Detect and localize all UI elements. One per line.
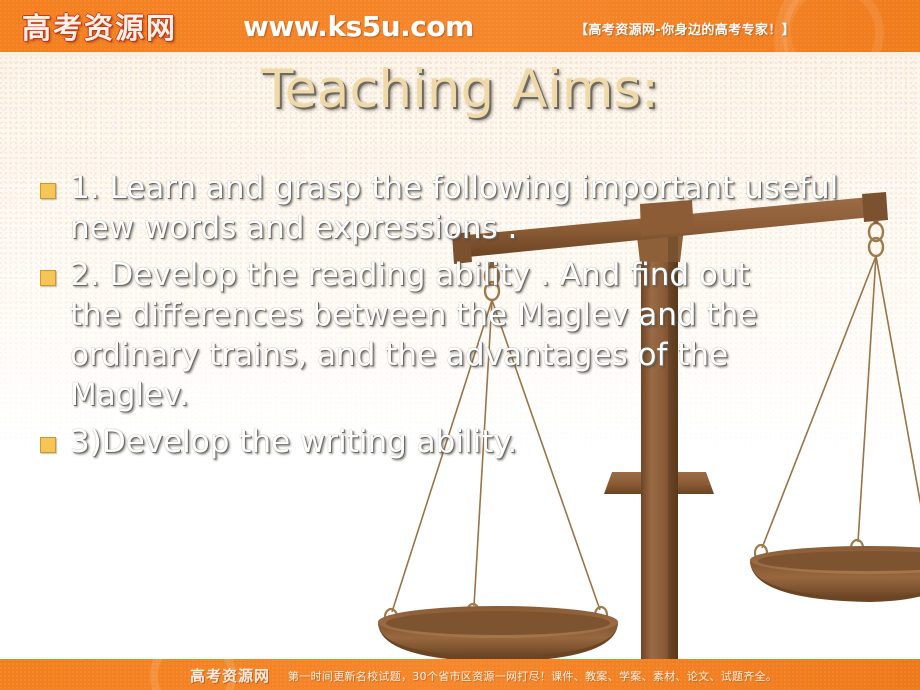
square-bullet-icon xyxy=(40,183,56,199)
site-logo-text: 高考资源网 xyxy=(22,5,177,47)
square-bullet-icon xyxy=(40,270,56,286)
square-bullet-icon xyxy=(40,437,56,453)
site-footer-banner: 高考资源网 第一时间更新名校试题，30个省市区资源一网打尽！课件、教案、学案、素… xyxy=(0,659,920,690)
list-item: 1. Learn and grasp the following importa… xyxy=(40,168,880,249)
bullet-text-3: 3)Develop the writing ability. xyxy=(70,422,830,462)
slide-canvas: 高考资源网 www.ks5u.com 【高考资源网-你身边的高考专家！】 Tea… xyxy=(0,0,920,690)
slide-bullet-list: 1. Learn and grasp the following importa… xyxy=(40,168,880,468)
list-item: 3)Develop the writing ability. xyxy=(40,422,880,462)
site-tagline: 【高考资源网-你身边的高考专家！】 xyxy=(575,19,795,38)
bullet-text-2: 2. Develop the reading ability . And fin… xyxy=(70,255,810,416)
site-url-text[interactable]: www.ks5u.com xyxy=(243,10,474,43)
slide-title: Teaching Aims: xyxy=(0,62,920,118)
footer-description-text: 第一时间更新名校试题，30个省市区资源一网打尽！课件、教案、学案、素材、论文、试… xyxy=(288,668,777,684)
bullet-text-1: 1. Learn and grasp the following importa… xyxy=(70,168,880,249)
footer-logo-text: 高考资源网 xyxy=(190,665,270,686)
list-item: 2. Develop the reading ability . And fin… xyxy=(40,255,880,416)
header-underline-strip xyxy=(0,52,920,56)
header-swirl-decoration-2 xyxy=(782,0,884,52)
site-header-banner: 高考资源网 www.ks5u.com 【高考资源网-你身边的高考专家！】 xyxy=(0,0,920,52)
